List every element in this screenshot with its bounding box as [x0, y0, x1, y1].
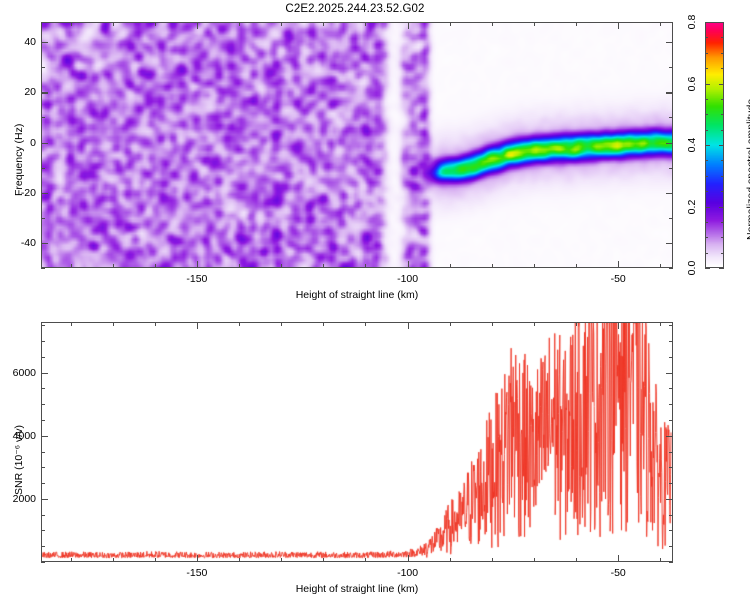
- colorbar-tick-label: 0.2: [686, 196, 698, 218]
- colorbar-major-tick-right: [719, 84, 724, 85]
- y-tick-label: 40: [3, 36, 36, 48]
- y-minor-tick: [41, 388, 45, 389]
- colorbar-minor-tick-right: [721, 37, 724, 38]
- spectrogram-panel: [41, 22, 673, 268]
- x-minor-tick-top: [323, 22, 324, 26]
- y-minor-tick-right: [669, 404, 673, 405]
- x-tick-label: -100: [397, 567, 418, 579]
- x-minor-tick: [450, 558, 451, 562]
- x-minor-tick: [576, 558, 577, 562]
- colorbar-minor-tick: [705, 114, 708, 115]
- x-minor-tick-top: [660, 22, 661, 26]
- y-minor-tick-right: [669, 515, 673, 516]
- y-minor-tick: [41, 420, 45, 421]
- colorbar-major-tick: [705, 84, 710, 85]
- x-major-tick-top: [197, 22, 198, 29]
- y-minor-tick: [41, 467, 45, 468]
- y-major-tick-right: [666, 193, 673, 194]
- page-title: C2E2.2025.244.23.52.G02: [0, 3, 710, 15]
- x-tick-label: -100: [397, 273, 418, 285]
- x-minor-tick-top: [71, 22, 72, 26]
- x-major-tick: [408, 261, 409, 268]
- colorbar-minor-tick-right: [721, 253, 724, 254]
- x-minor-tick-top: [576, 22, 577, 26]
- colorbar-tick-label: 0.4: [686, 134, 698, 156]
- colorbar-major-tick: [705, 22, 710, 23]
- x-minor-tick-top: [281, 322, 282, 326]
- x-minor-tick-top: [239, 22, 240, 26]
- x-minor-tick-top: [365, 322, 366, 326]
- y-minor-tick: [41, 546, 45, 547]
- colorbar-major-tick-right: [719, 22, 724, 23]
- y-minor-tick: [41, 218, 45, 219]
- colorbar-minor-tick: [705, 130, 708, 131]
- x-minor-tick-top: [492, 322, 493, 326]
- snr-line-plot: [42, 323, 672, 561]
- x-major-tick-top: [408, 22, 409, 29]
- y-minor-tick-right: [669, 452, 673, 453]
- y-major-tick: [41, 499, 48, 500]
- x-minor-tick-top: [450, 322, 451, 326]
- colorbar-minor-tick: [705, 37, 708, 38]
- colorbar-minor-tick-right: [721, 160, 724, 161]
- x-tick-label: -50: [611, 567, 626, 579]
- snr-panel: [41, 322, 673, 562]
- y-minor-tick-right: [669, 117, 673, 118]
- y-major-tick: [41, 42, 48, 43]
- y-minor-tick-right: [669, 341, 673, 342]
- y-tick-label: 20: [3, 86, 36, 98]
- y-minor-tick: [41, 515, 45, 516]
- colorbar-minor-tick-right: [721, 99, 724, 100]
- x-minor-tick-top: [113, 22, 114, 26]
- y-minor-tick: [41, 404, 45, 405]
- colorbar-minor-tick: [705, 160, 708, 161]
- colorbar-minor-tick-right: [721, 176, 724, 177]
- x-minor-tick: [155, 264, 156, 268]
- y-minor-tick-right: [669, 530, 673, 531]
- colorbar-major-tick-right: [719, 268, 724, 269]
- x-minor-tick-top: [155, 322, 156, 326]
- x-major-tick-top: [408, 322, 409, 329]
- y-minor-tick-right: [669, 546, 673, 547]
- x-minor-tick: [239, 558, 240, 562]
- colorbar-minor-tick-right: [721, 130, 724, 131]
- colorbar-tick-label: 0.6: [686, 73, 698, 95]
- x-tick-label: -150: [186, 567, 207, 579]
- y-minor-tick-right: [669, 325, 673, 326]
- y-major-tick: [41, 436, 48, 437]
- x-minor-tick-top: [450, 22, 451, 26]
- y-minor-tick-right: [669, 357, 673, 358]
- x-minor-tick-top: [281, 22, 282, 26]
- colorbar-minor-tick-right: [721, 222, 724, 223]
- colorbar-minor-tick: [705, 253, 708, 254]
- snr-x-axis-label: Height of straight line (km): [296, 583, 419, 595]
- colorbar-major-tick: [705, 145, 710, 146]
- y-tick-label: -40: [3, 237, 36, 249]
- y-minor-tick-right: [669, 483, 673, 484]
- spectrogram-x-axis-label: Height of straight line (km): [296, 289, 419, 301]
- x-minor-tick-top: [113, 322, 114, 326]
- figure-root: C2E2.2025.244.23.52.G02 -150-100-5040200…: [0, 0, 750, 600]
- x-major-tick: [197, 261, 198, 268]
- colorbar-major-tick: [705, 268, 710, 269]
- x-tick-label: -150: [186, 273, 207, 285]
- x-minor-tick: [365, 264, 366, 268]
- x-minor-tick-top: [534, 22, 535, 26]
- x-minor-tick: [281, 264, 282, 268]
- y-major-tick-right: [666, 92, 673, 93]
- colorbar-label: Normalized spectral amplitude: [745, 99, 750, 240]
- y-tick-label: 6000: [3, 367, 36, 379]
- x-minor-tick: [239, 264, 240, 268]
- y-major-tick: [41, 193, 48, 194]
- x-minor-tick: [576, 264, 577, 268]
- x-major-tick: [408, 555, 409, 562]
- y-minor-tick-right: [669, 67, 673, 68]
- x-minor-tick-top: [323, 322, 324, 326]
- y-minor-tick-right: [669, 268, 673, 269]
- x-major-tick-top: [618, 322, 619, 329]
- x-minor-tick-top: [155, 22, 156, 26]
- y-minor-tick-right: [669, 388, 673, 389]
- x-major-tick: [197, 555, 198, 562]
- y-minor-tick-right: [669, 168, 673, 169]
- colorbar-minor-tick: [705, 53, 708, 54]
- y-minor-tick-right: [669, 420, 673, 421]
- spectrogram-y-axis-label: Frequency (Hz): [13, 124, 25, 196]
- y-major-tick: [41, 373, 48, 374]
- y-major-tick-right: [666, 373, 673, 374]
- x-major-tick-top: [618, 22, 619, 29]
- y-minor-tick-right: [669, 562, 673, 563]
- y-minor-tick: [41, 530, 45, 531]
- colorbar-minor-tick: [705, 99, 708, 100]
- x-minor-tick: [660, 264, 661, 268]
- x-minor-tick: [113, 558, 114, 562]
- y-minor-tick: [41, 562, 45, 563]
- colorbar-major-tick-right: [719, 207, 724, 208]
- y-major-tick: [41, 143, 48, 144]
- y-minor-tick-right: [669, 218, 673, 219]
- x-minor-tick: [281, 558, 282, 562]
- colorbar-minor-tick-right: [721, 68, 724, 69]
- x-minor-tick-top: [660, 322, 661, 326]
- x-minor-tick: [113, 264, 114, 268]
- x-minor-tick-top: [576, 322, 577, 326]
- x-minor-tick: [492, 264, 493, 268]
- snr-y-axis-label: SNR (10⁻⁶ v/v): [13, 425, 25, 495]
- y-major-tick-right: [666, 143, 673, 144]
- x-minor-tick: [71, 264, 72, 268]
- x-major-tick-top: [197, 322, 198, 329]
- y-minor-tick-right: [669, 467, 673, 468]
- y-minor-tick: [41, 117, 45, 118]
- x-major-tick: [618, 261, 619, 268]
- y-minor-tick: [41, 357, 45, 358]
- y-minor-tick: [41, 67, 45, 68]
- x-minor-tick: [323, 558, 324, 562]
- colorbar-minor-tick-right: [721, 114, 724, 115]
- x-minor-tick: [155, 558, 156, 562]
- x-minor-tick: [450, 264, 451, 268]
- x-minor-tick: [660, 558, 661, 562]
- y-major-tick-right: [666, 42, 673, 43]
- spectrogram-image: [42, 23, 672, 267]
- x-minor-tick: [71, 558, 72, 562]
- y-minor-tick: [41, 325, 45, 326]
- colorbar-minor-tick: [705, 68, 708, 69]
- colorbar-minor-tick: [705, 191, 708, 192]
- x-minor-tick: [534, 558, 535, 562]
- colorbar-major-tick: [705, 207, 710, 208]
- y-major-tick: [41, 92, 48, 93]
- x-minor-tick-top: [492, 22, 493, 26]
- y-major-tick: [41, 243, 48, 244]
- colorbar-minor-tick: [705, 237, 708, 238]
- x-minor-tick-top: [365, 22, 366, 26]
- y-major-tick-right: [666, 436, 673, 437]
- y-minor-tick: [41, 341, 45, 342]
- y-minor-tick: [41, 268, 45, 269]
- x-minor-tick: [365, 558, 366, 562]
- y-minor-tick: [41, 483, 45, 484]
- colorbar-minor-tick-right: [721, 53, 724, 54]
- y-minor-tick: [41, 452, 45, 453]
- y-major-tick-right: [666, 243, 673, 244]
- colorbar-major-tick-right: [719, 145, 724, 146]
- x-minor-tick: [323, 264, 324, 268]
- x-minor-tick: [492, 558, 493, 562]
- colorbar-tick-label: 0.0: [686, 257, 698, 279]
- colorbar-minor-tick: [705, 222, 708, 223]
- colorbar-tick-label: 0.8: [686, 11, 698, 33]
- x-tick-label: -50: [611, 273, 626, 285]
- x-minor-tick: [534, 264, 535, 268]
- x-minor-tick-top: [534, 322, 535, 326]
- colorbar-minor-tick-right: [721, 191, 724, 192]
- colorbar-minor-tick: [705, 176, 708, 177]
- x-minor-tick-top: [71, 322, 72, 326]
- x-major-tick: [618, 555, 619, 562]
- y-major-tick-right: [666, 499, 673, 500]
- colorbar-minor-tick-right: [721, 237, 724, 238]
- x-minor-tick-top: [239, 322, 240, 326]
- y-minor-tick: [41, 168, 45, 169]
